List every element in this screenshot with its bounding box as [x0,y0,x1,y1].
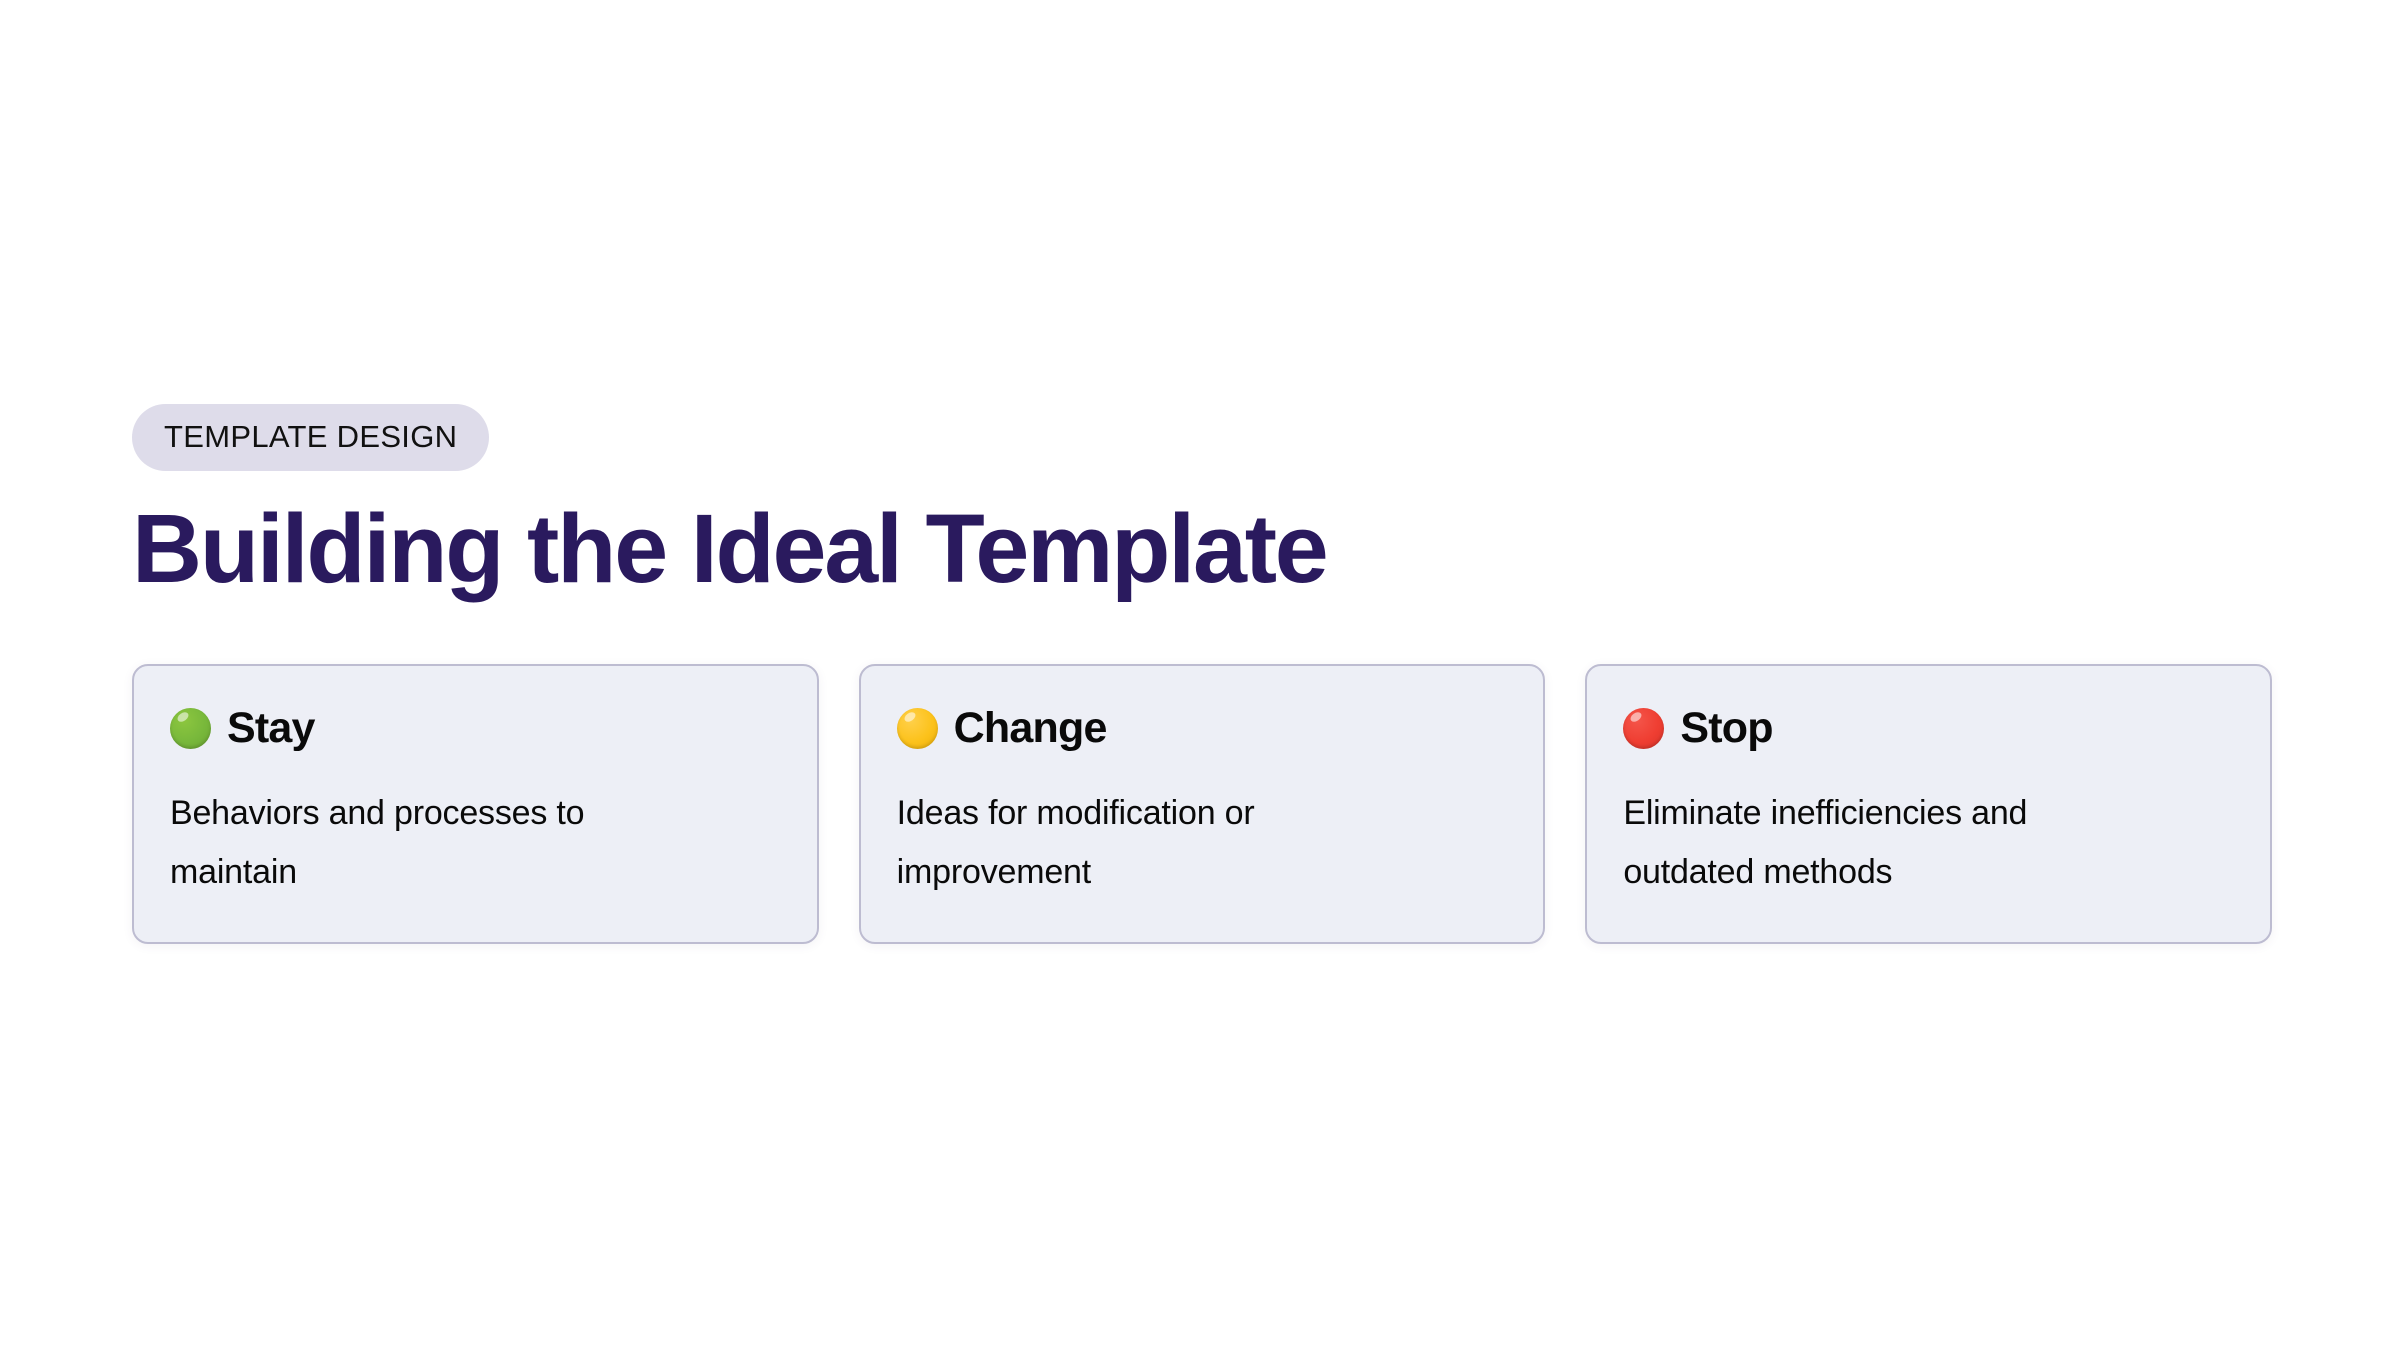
header-block: TEMPLATE DESIGN Building the Ideal Templ… [132,404,2272,597]
card-change-title: Change [954,707,1107,750]
green-circle-icon [170,708,211,749]
red-circle-icon [1623,708,1664,749]
yellow-circle-icon [897,708,938,749]
card-stay-title: Stay [227,707,315,750]
card-stop-title: Stop [1680,707,1772,750]
card-stay-body: Behaviors and processes to maintain [170,784,640,902]
card-stop-body: Eliminate inefficiencies and outdated me… [1623,784,2093,902]
card-stop-header: Stop [1623,704,2234,752]
page-title: Building the Ideal Template [132,500,2272,597]
card-stop[interactable]: Stop Eliminate inefficiencies and outdat… [1585,664,2272,944]
slide-canvas: TEMPLATE DESIGN Building the Ideal Templ… [0,0,2400,1350]
card-change-header: Change [897,704,1508,752]
card-stay[interactable]: Stay Behaviors and processes to maintain [132,664,819,944]
cards-row: Stay Behaviors and processes to maintain… [132,664,2272,944]
eyebrow-badge: TEMPLATE DESIGN [132,404,489,471]
card-change-body: Ideas for modification or improvement [897,784,1367,902]
card-change[interactable]: Change Ideas for modification or improve… [859,664,1546,944]
card-stay-header: Stay [170,704,781,752]
